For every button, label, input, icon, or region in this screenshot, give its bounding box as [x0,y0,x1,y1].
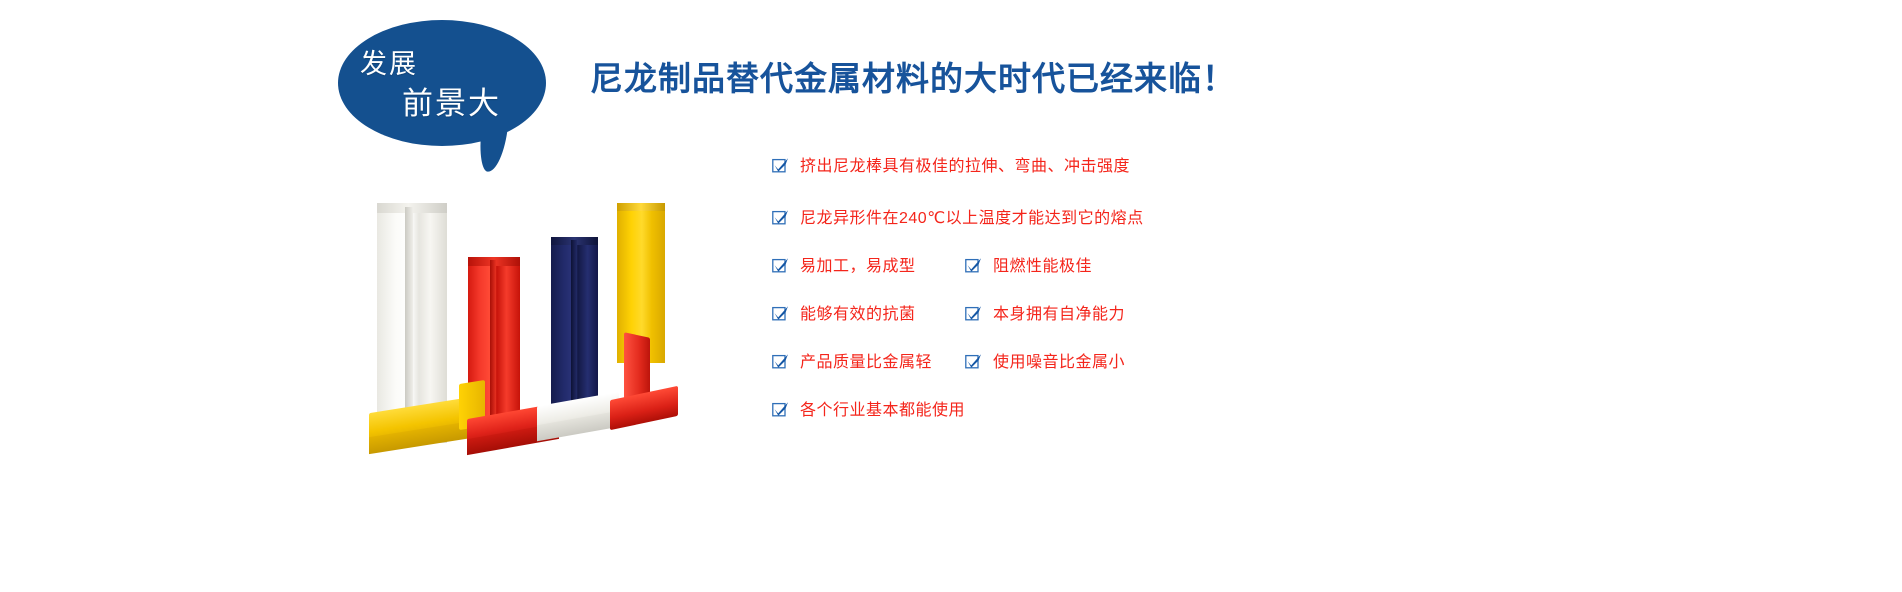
red-l-bar [600,335,678,445]
promo-banner: 发展 前景大 尼龙制品替代金属材料的大时代已经来临！ [0,0,1902,592]
feature-item: 各个行业基本都能使用 [772,396,965,420]
feature-row: 挤出尼龙棒具有极佳的拉伸、弯曲、冲击强度 [772,152,1392,204]
bubble-text-line-2: 前景大 [402,78,501,123]
feature-label: 产品质量比金属轻 [800,348,932,372]
feature-row: 能够有效的抗菌 本身拥有自净能力 [772,300,1392,348]
headline: 尼龙制品替代金属材料的大时代已经来临！ [590,52,1236,100]
product-photo [355,195,705,460]
feature-row: 易加工，易成型 阻燃性能极佳 [772,252,1392,300]
checkbox-check-icon [772,209,789,226]
feature-label: 挤出尼龙棒具有极佳的拉伸、弯曲、冲击强度 [800,152,1130,176]
feature-item: 尼龙异形件在240℃以上温度才能达到它的熔点 [772,204,1144,228]
checkbox-check-icon [772,157,789,174]
feature-row: 产品质量比金属轻 使用噪音比金属小 [772,348,1392,396]
feature-label: 尼龙异形件在240℃以上温度才能达到它的熔点 [800,204,1144,228]
feature-label: 能够有效的抗菌 [800,300,916,324]
feature-item: 使用噪音比金属小 [965,348,1125,372]
feature-row: 各个行业基本都能使用 [772,396,1392,444]
feature-label: 易加工，易成型 [800,252,916,276]
checkbox-check-icon [965,257,982,274]
feature-item: 易加工，易成型 [772,252,916,276]
checkbox-check-icon [772,401,789,418]
feature-item: 挤出尼龙棒具有极佳的拉伸、弯曲、冲击强度 [772,152,1130,176]
feature-item: 阻燃性能极佳 [965,252,1092,276]
feature-item: 产品质量比金属轻 [772,348,932,372]
checkbox-check-icon [772,257,789,274]
checkbox-check-icon [772,305,789,322]
checkbox-check-icon [965,305,982,322]
feature-item: 能够有效的抗菌 [772,300,916,324]
speech-bubble-tail [477,115,509,173]
bubble-text-line-1: 发展 [360,42,418,81]
checkbox-check-icon [772,353,789,370]
feature-row: 尼龙异形件在240℃以上温度才能达到它的熔点 [772,204,1392,252]
feature-label: 本身拥有自净能力 [993,300,1125,324]
feature-list: 挤出尼龙棒具有极佳的拉伸、弯曲、冲击强度 尼龙异形件在240℃以上温度才能达到它… [772,152,1392,444]
speech-bubble: 发展 前景大 [338,20,550,172]
checkbox-check-icon [965,353,982,370]
feature-label: 各个行业基本都能使用 [800,396,965,420]
feature-label: 使用噪音比金属小 [993,348,1125,372]
feature-item: 本身拥有自净能力 [965,300,1125,324]
feature-label: 阻燃性能极佳 [993,252,1092,276]
